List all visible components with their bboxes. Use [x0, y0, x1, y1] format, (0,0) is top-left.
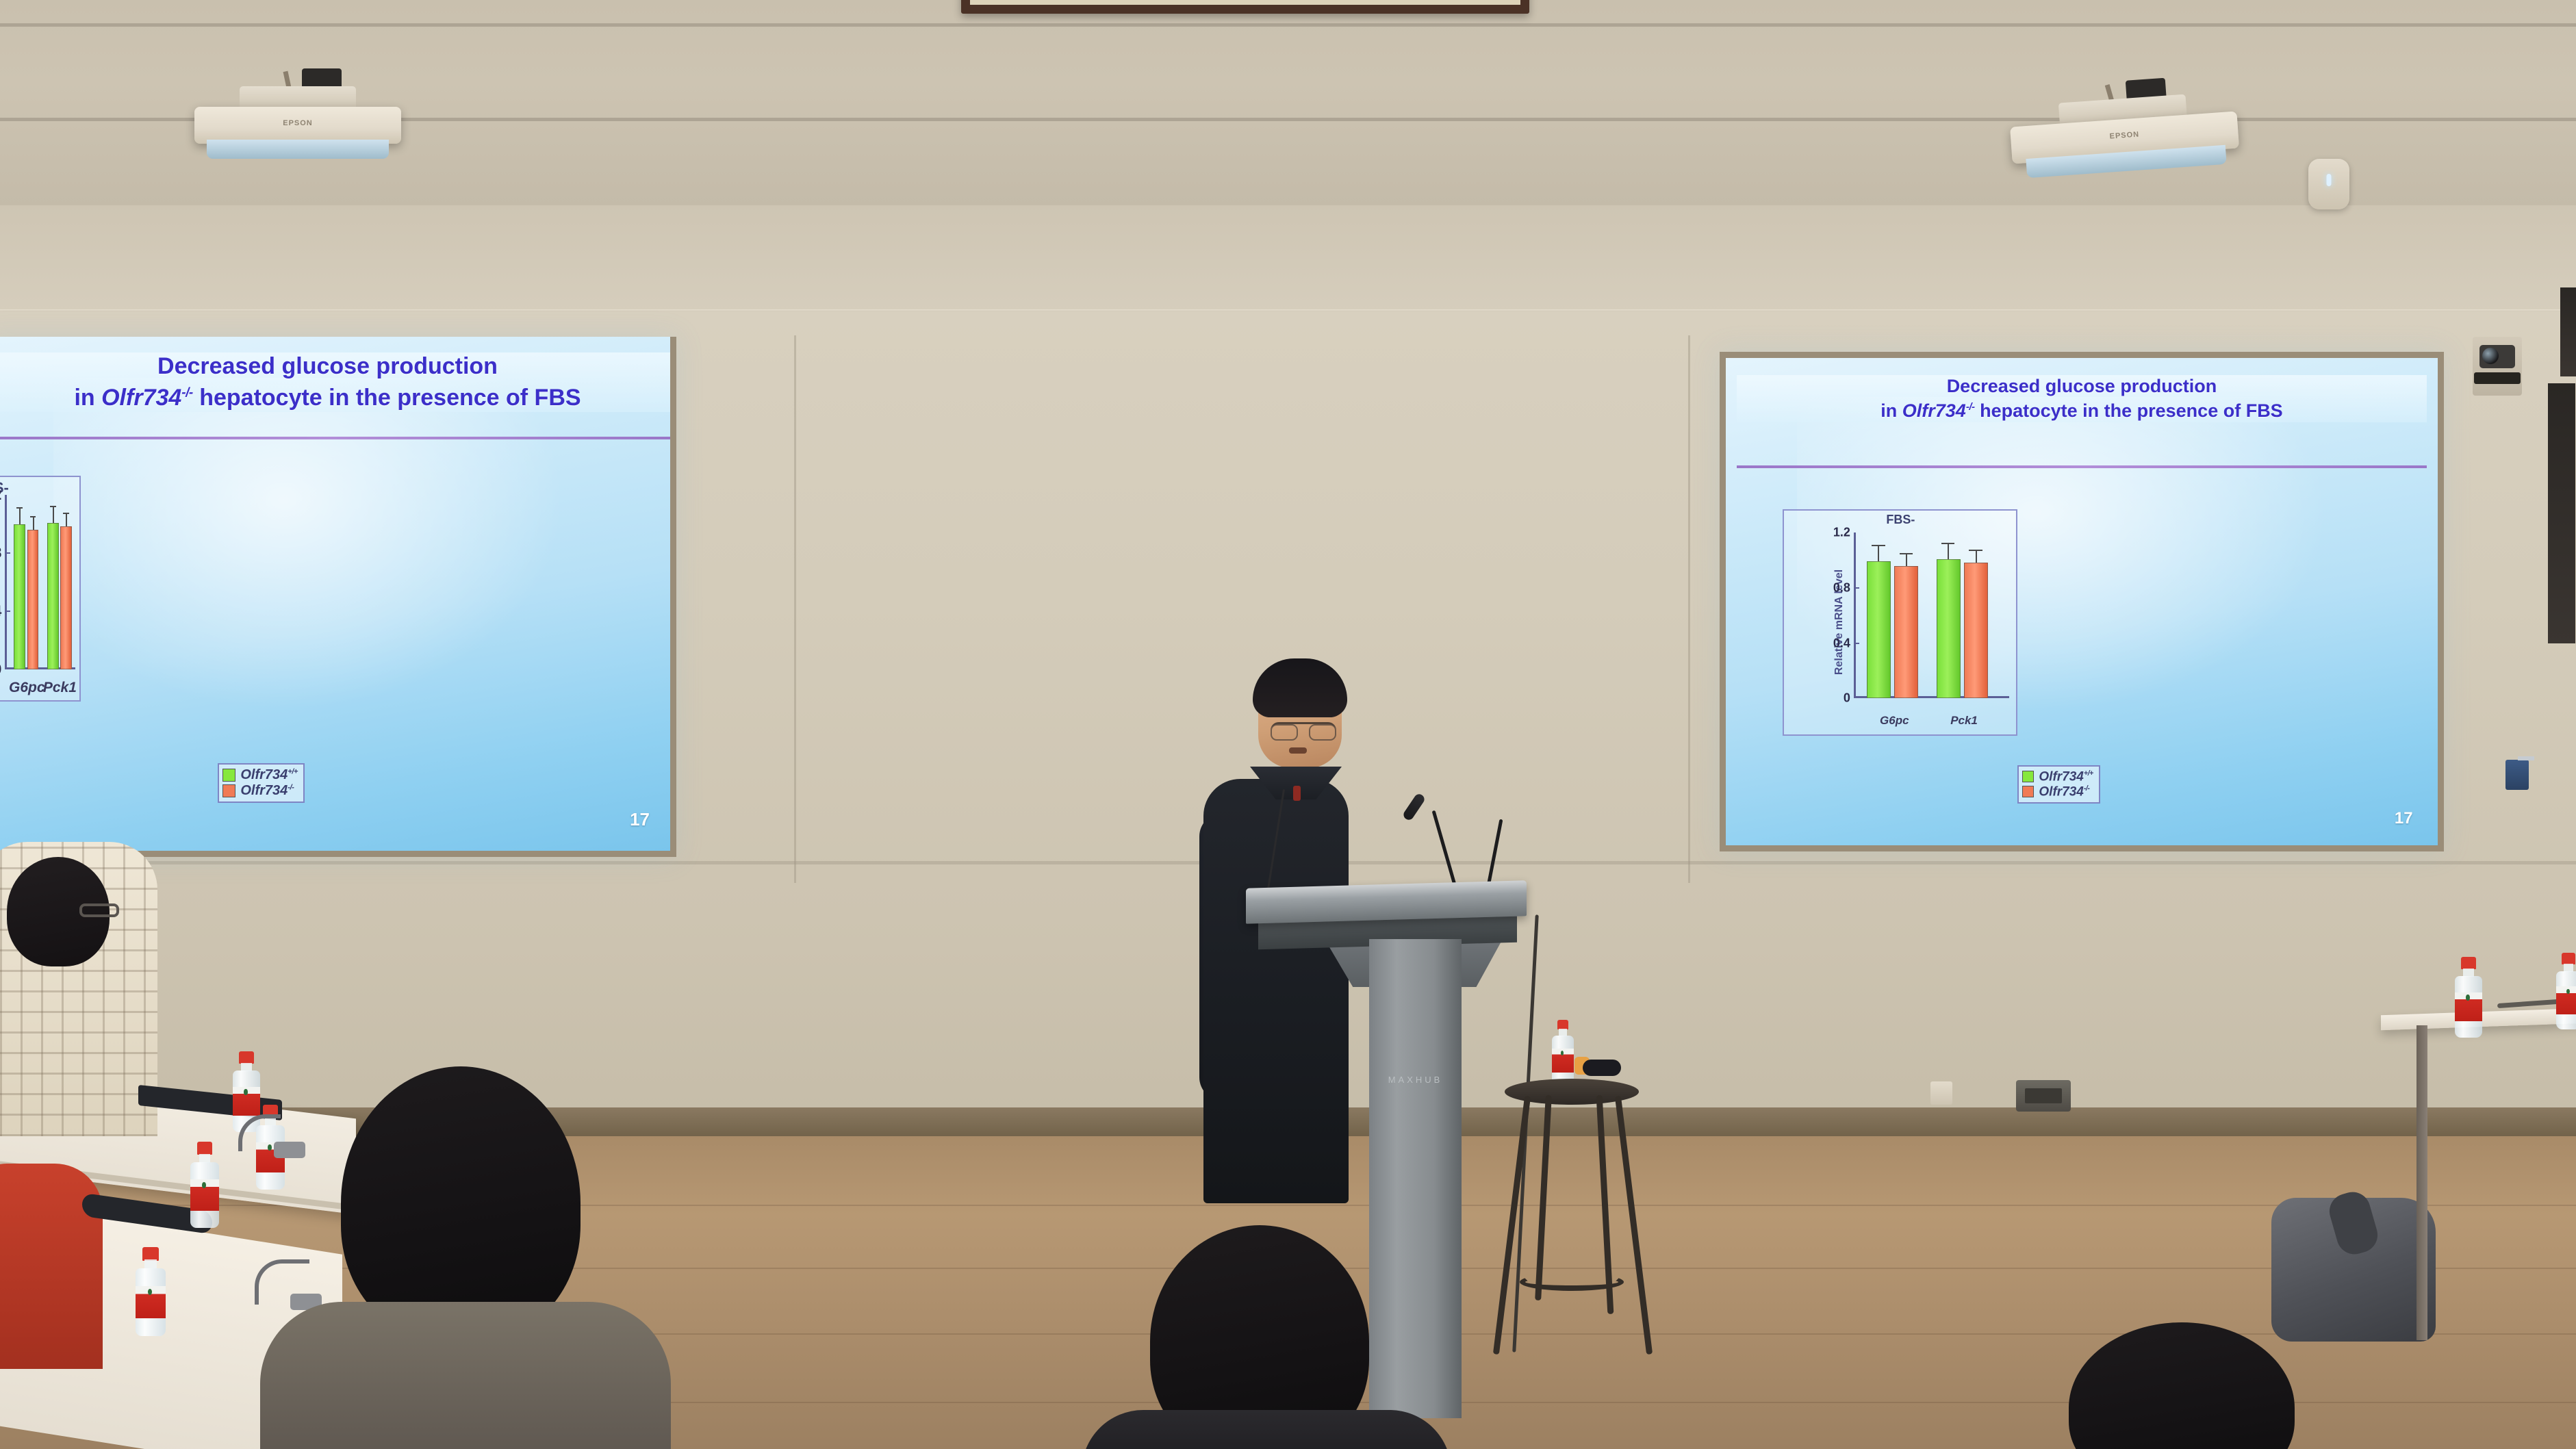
seated-attendee-glasses-icon — [79, 903, 119, 917]
legend-label-wt: Olfr734+/+ — [2039, 769, 2093, 784]
screen-surface-left: Decreased glucose production in Olfr734-… — [0, 337, 670, 851]
chart-ytick-mark — [5, 611, 10, 612]
wall-blue-fixture — [2505, 760, 2529, 790]
bar-pck1-wt — [1937, 559, 1961, 698]
legend-label-ko: Olfr734-/- — [2039, 784, 2089, 799]
speaker-glasses-icon — [1271, 722, 1336, 737]
wall-picture-frame — [961, 0, 1529, 14]
slide-title-rule — [0, 437, 670, 439]
chart-ytick-label-2: 0.8 — [1833, 580, 1850, 595]
legend-sup-wt: +/+ — [288, 768, 298, 776]
legend-swatch-ko-icon — [2022, 786, 2034, 797]
legend-sup-ko: -/- — [288, 784, 294, 792]
slide-title-superscript: -/- — [1966, 401, 1975, 413]
bottle-cap — [197, 1142, 212, 1155]
chart-y-axis — [1854, 533, 1856, 698]
chart-group-label: FBS- — [1886, 513, 1915, 527]
legend-label-ko: Olfr734-/- — [240, 783, 294, 799]
bottle-table-3[interactable] — [189, 1142, 220, 1228]
chart-inner-left: FBS- 1.2 0.8 0.4 0 — [0, 477, 79, 700]
screen-glare — [53, 378, 602, 738]
bottle-cap — [2461, 957, 2475, 969]
wall-dark-edge — [2560, 287, 2576, 376]
errorbar-g6pc-wt — [1878, 546, 1879, 561]
bottle-side-table-2[interactable] — [2555, 953, 2576, 1029]
chart-xcat-g6pc: G6pc — [9, 680, 44, 696]
errorcap-pck1-ko — [1969, 550, 1982, 551]
podium-brand-label: MAXHUB — [1369, 1075, 1462, 1085]
errorcap-pck1-ko — [63, 513, 69, 514]
stool-footrest-ring — [1520, 1273, 1624, 1291]
chart-ytick-mark — [5, 552, 10, 554]
wall-seam — [794, 335, 796, 883]
slide-title-right: Decreased glucose production in Olfr734-… — [1737, 375, 2427, 422]
wall-conference-camera — [2473, 337, 2522, 396]
slide-title-suffix: hepatocyte in the presence of FBS — [1975, 400, 2283, 421]
ceiling-seam — [0, 23, 2576, 27]
chart-ytick-label-3: 1.2 — [1833, 526, 1850, 540]
legend-swatch-wt-icon — [2022, 771, 2034, 782]
chart-panel-right: FBS- Relative mRNA level 1.2 0.8 0.4 — [1783, 509, 2017, 736]
legend-row-ko: Olfr734-/- — [2022, 784, 2093, 799]
errorcap-g6pc-wt — [16, 507, 23, 509]
chart-ytick-mark — [1854, 643, 1859, 644]
legend-gene-ko: Olfr734 — [2039, 784, 2083, 799]
projection-screen-right: Decreased glucose production in Olfr734-… — [1720, 352, 2444, 851]
chart-legend-left: Olfr734+/+ Olfr734-/- — [218, 763, 305, 803]
chart-inner-right: FBS- Relative mRNA level 1.2 0.8 0.4 — [1784, 511, 2016, 734]
chart-ytick-label-2: 0.8 — [0, 544, 1, 562]
slide-title-suffix: hepatocyte in the presence of FBS — [193, 385, 581, 411]
legend-label-wt: Olfr734+/+ — [240, 767, 298, 783]
slide-title-line2: in Olfr734-/- hepatocyte in the presence… — [1737, 400, 2427, 422]
bottle-table-4[interactable] — [134, 1247, 167, 1336]
legend-gene-ko: Olfr734 — [240, 783, 288, 798]
bottle-cap — [142, 1247, 158, 1261]
bottle-label-logo-icon — [2566, 989, 2570, 995]
slide-title-left: Decreased glucose production in Olfr734-… — [0, 352, 670, 413]
projector-right: EPSON — [2008, 94, 2241, 190]
errorbar-pck1-ko — [66, 514, 67, 526]
errorbar-g6pc-ko — [1906, 554, 1907, 566]
slide-title-line1: Decreased glucose production — [1737, 375, 2427, 398]
bottle-on-stool[interactable] — [1551, 1020, 1574, 1086]
bottle-label-logo-icon — [244, 1089, 247, 1094]
bottle-label-logo-icon — [202, 1182, 206, 1188]
chart-ytick-label-0: 0 — [1844, 691, 1850, 706]
side-table-right-leg — [2416, 1025, 2427, 1340]
legend-swatch-wt-icon — [222, 769, 235, 782]
bottle-cap — [1557, 1020, 1568, 1029]
legend-row-wt: Olfr734+/+ — [222, 767, 298, 783]
chart-group-g6pc — [1863, 533, 1926, 698]
chart-ytick-label-1: 0.4 — [0, 602, 1, 620]
desk-microphone-base[interactable] — [274, 1142, 305, 1158]
chart-ytick-label-0: 0 — [0, 661, 1, 678]
chart-xcat-pck1: Pck1 — [1928, 714, 2000, 728]
chart-panel-left: FBS- 1.2 0.8 0.4 0 — [0, 476, 81, 702]
sensor-led-icon — [2327, 174, 2332, 186]
chart-group-g6pc — [13, 495, 40, 669]
bottle-label-logo-icon — [2466, 995, 2469, 1000]
audience-shoulders-left-front — [260, 1302, 671, 1449]
slide-title-prefix: in — [1880, 400, 1902, 421]
projector-lens — [207, 140, 389, 159]
screen-surface-right: Decreased glucose production in Olfr734-… — [1726, 358, 2438, 845]
speaker-mouth — [1289, 747, 1307, 754]
podium-column — [1369, 939, 1462, 1418]
lecture-hall-scene: EPSON EPSON Decreased glucose production… — [0, 0, 2576, 1449]
wall-fixture-top — [2518, 756, 2534, 760]
slide-title-rule — [1737, 465, 2427, 468]
legend-sup-wt: +/+ — [2084, 769, 2093, 778]
projection-screen-left: Decreased glucose production in Olfr734-… — [0, 337, 676, 857]
bar-pck1-ko — [60, 526, 72, 669]
chart-ytick-label-1: 0.4 — [1833, 636, 1850, 650]
lapel-mic-transmitter — [1293, 786, 1301, 801]
slide-number-left: 17 — [630, 809, 650, 830]
wall-switch-plate[interactable] — [1930, 1081, 1952, 1105]
projector-riser — [240, 86, 355, 108]
legend-sup-ko: -/- — [2084, 784, 2090, 793]
audience-shoulders-center — [1082, 1410, 1451, 1449]
slide-title-gene: Olfr734 — [101, 385, 181, 411]
errorcap-pck1-wt — [50, 506, 56, 507]
slide-title-superscript: -/- — [181, 386, 192, 400]
projector-brand-label: EPSON — [283, 119, 313, 127]
wall-seam — [1688, 335, 1690, 883]
bar-pck1-ko — [1964, 563, 1988, 698]
bar-g6pc-wt — [14, 524, 25, 669]
slide-title-gene: Olfr734 — [1902, 400, 1966, 421]
chart-group-pck1 — [1933, 533, 1995, 698]
wall-outlet-socket[interactable] — [2025, 1088, 2062, 1103]
errorbar-pck1-wt — [53, 507, 54, 523]
presentation-clicker[interactable] — [1583, 1060, 1621, 1076]
audience-head-left-front — [341, 1066, 581, 1340]
bottle-cap — [2562, 953, 2575, 964]
legend-row-wt: Olfr734+/+ — [2022, 769, 2093, 784]
chart-legend-right: Olfr734+/+ Olfr734-/- — [2017, 765, 2100, 804]
ceiling-sensor-icon — [2308, 159, 2349, 209]
errorcap-g6pc-ko — [30, 516, 36, 517]
bottle-cap — [239, 1051, 253, 1064]
chart-xcat-pck1: Pck1 — [42, 680, 77, 696]
doorway-dark-edge — [2548, 383, 2575, 643]
projector-left: EPSON — [194, 89, 401, 164]
errorcap-g6pc-ko — [1900, 553, 1913, 554]
errorbar-pck1-wt — [1948, 544, 1949, 559]
slide-title-prefix: in — [74, 385, 101, 411]
bar-g6pc-ko — [27, 530, 39, 669]
chart-xcat-g6pc: G6pc — [1859, 714, 1930, 728]
legend-gene-wt: Olfr734 — [2039, 769, 2083, 784]
slide-title-line1: Decreased glucose production — [0, 352, 670, 381]
errorbar-g6pc-wt — [19, 509, 21, 524]
errorbar-g6pc-ko — [33, 517, 34, 530]
errorcap-g6pc-wt — [1872, 545, 1885, 546]
errorbar-pck1-ko — [1976, 551, 1977, 563]
chart-ytick-label-3: 1.2 — [0, 486, 1, 504]
bar-pck1-wt — [47, 523, 59, 669]
legend-row-ko: Olfr734-/- — [222, 783, 298, 799]
bar-g6pc-ko — [1894, 566, 1918, 699]
bottle-label-logo-icon — [148, 1289, 152, 1295]
legend-swatch-ko-icon — [222, 784, 235, 797]
chart-y-axis — [5, 495, 7, 669]
chart-group-pck1 — [46, 495, 73, 669]
bottle-side-table[interactable] — [2453, 957, 2484, 1038]
bar-g6pc-wt — [1867, 561, 1891, 699]
camera-lens-icon — [2482, 348, 2499, 364]
legend-gene-wt: Olfr734 — [240, 767, 288, 782]
slide-title-line2: in Olfr734-/- hepatocyte in the presence… — [0, 384, 670, 412]
errorcap-pck1-wt — [1941, 543, 1954, 544]
camera-base-bar — [2474, 372, 2521, 384]
chart-ytick-mark — [1854, 587, 1859, 589]
slide-number-right: 17 — [2395, 809, 2413, 828]
